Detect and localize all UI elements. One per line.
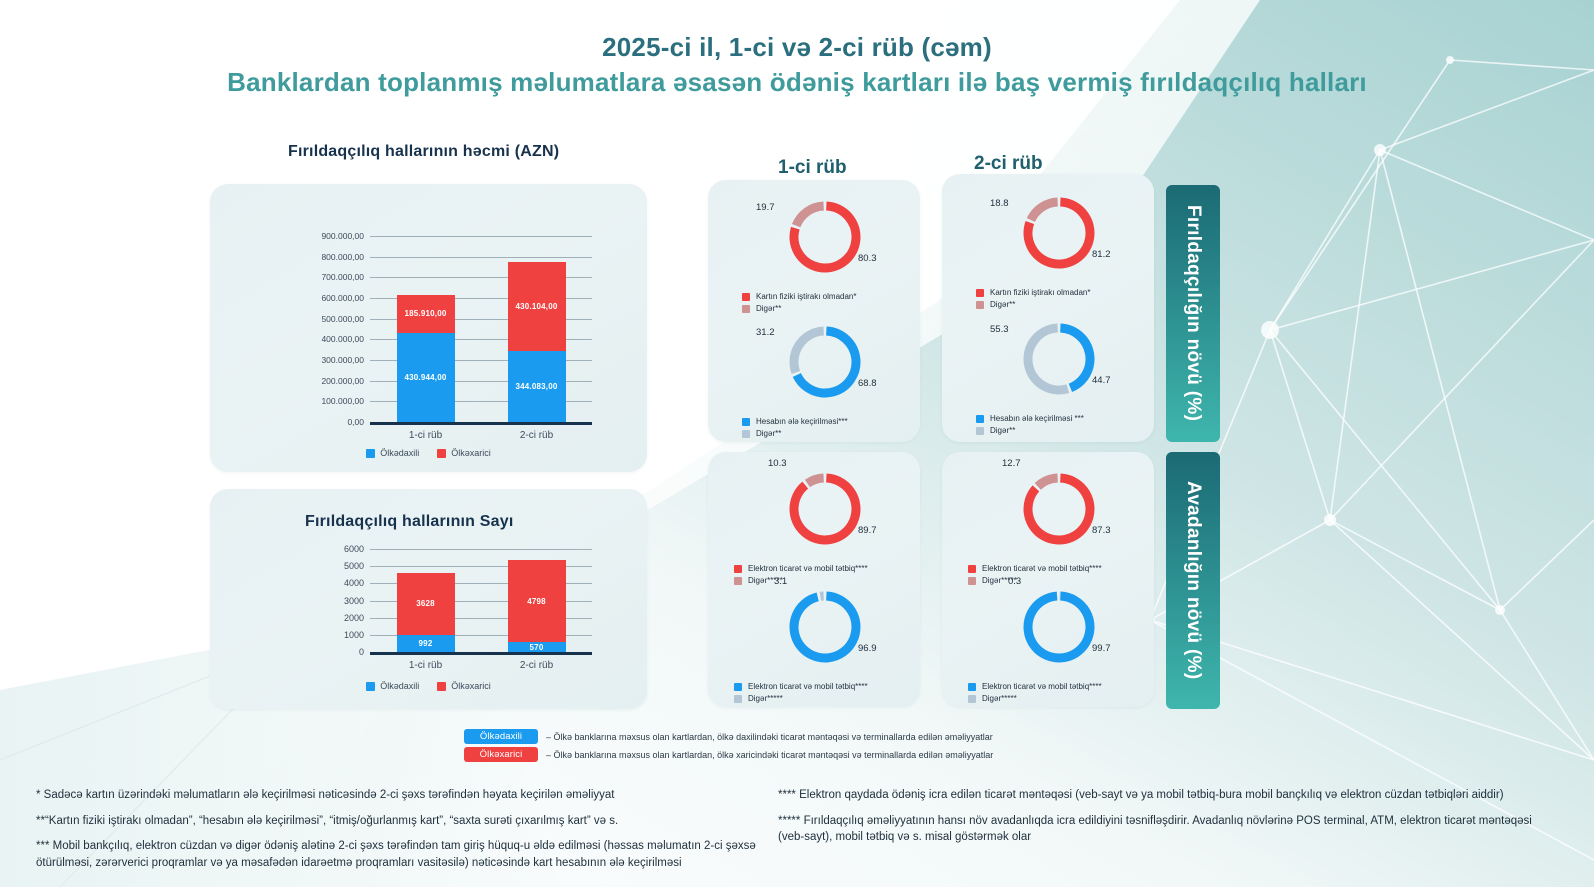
volume-chart: 0,00100.000,00200.000,00300.000,00400.00… [210, 184, 647, 472]
q1-device-donut-b: 96.93.1Elektron ticarət və mobil tətbiq*… [788, 590, 862, 664]
donut-legend-swatch [976, 301, 984, 309]
bar-segment: 570 [508, 642, 566, 652]
footnotes-right: **** Elektron qaydada ödəniş icra edilən… [778, 787, 1538, 855]
donut-legend-item: Elektron ticarət və mobil tətbiq**** [968, 564, 1102, 573]
quarter-1-header: 1-ci rüb [778, 157, 847, 179]
title-line-2: Banklardan toplanmış məlumatlara əsasən … [0, 65, 1594, 100]
donut-legend-swatch [742, 418, 750, 426]
donut-legend-item: Digər***** [968, 576, 1102, 585]
donut-legend: Elektron ticarət və mobil tətbiq****Digə… [968, 682, 1102, 706]
x-axis-category-label: 2-ci rüb [520, 660, 553, 671]
donut-legend-swatch [968, 565, 976, 573]
y-axis-tick-label: 5000 [344, 561, 364, 571]
donut-legend-swatch [976, 289, 984, 297]
footnote-4: **** Elektron qaydada ödəniş icra edilən… [778, 787, 1538, 804]
donut-value-primary: 87.3 [1092, 525, 1111, 536]
q2-device-donut-b: 99.70.3Elektron ticarət və mobil tətbiq*… [1022, 590, 1096, 664]
footnote-3: *** Mobil bankçılıq, elektron cüzdan və … [36, 838, 756, 871]
donut-svg [788, 325, 862, 399]
legend-item: Ölkəxarici [437, 681, 491, 691]
donut-value-secondary: 19.7 [756, 202, 775, 213]
donut-legend-swatch [968, 577, 976, 585]
donut-chart [1022, 322, 1096, 396]
donut-legend-label: Elektron ticarət və mobil tətbiq**** [748, 682, 868, 691]
chart-legend: ÖlkədaxiliÖlkəxarici [210, 448, 647, 458]
donut-legend-swatch [742, 293, 750, 301]
donut-legend-item: Hesabın ələ keçirilməsi *** [976, 414, 1084, 423]
donut-legend: Elektron ticarət və mobil tətbiq****Digə… [968, 564, 1102, 588]
donut-chart [1022, 590, 1096, 664]
donut-svg [788, 472, 862, 546]
donut-legend-swatch [742, 305, 750, 313]
donut-legend-label: Elektron ticarət və mobil tətbiq**** [982, 564, 1102, 573]
bar-value-label: 430.944,00 [404, 373, 446, 382]
q2-fraud-donut-a: 81.218.8Kartın fiziki iştirakı olmadan*D… [1022, 196, 1096, 270]
donut-legend-label: Digər** [756, 429, 781, 438]
bar-value-label: 344.083,00 [515, 382, 557, 391]
donut-legend: Kartın fiziki iştirakı olmadan*Digər** [976, 288, 1090, 312]
y-axis-tick-label: 500.000,00 [321, 314, 364, 324]
donut-legend-swatch [734, 577, 742, 585]
donut-value-primary: 96.9 [858, 643, 877, 654]
legend-swatch [366, 682, 375, 691]
donut-arc [1031, 202, 1058, 220]
donut-value-primary: 80.3 [858, 253, 877, 264]
chart-legend: ÖlkədaxiliÖlkəxarici [210, 681, 647, 691]
donut-svg [1022, 590, 1096, 664]
donut-arc [794, 478, 856, 540]
y-axis-tick-label: 0,00 [347, 417, 364, 427]
donut-legend-item: Digər** [742, 429, 848, 438]
donut-value-secondary: 55.3 [990, 324, 1009, 335]
bar-segment: 430.944,00 [397, 333, 455, 422]
y-axis-tick-label: 700.000,00 [321, 272, 364, 282]
donut-legend-item: Digər***** [734, 576, 868, 585]
donut-chart [788, 200, 862, 274]
count-chart: 010002000300040005000600099236281-ci rüb… [210, 489, 647, 709]
key-row-foreign: Ölkəxarici – Ölkə banklarına məxsus olan… [464, 747, 993, 762]
donut-value-secondary: 3.1 [774, 576, 787, 587]
bar-stack: 344.083,00430.104,00 [508, 236, 566, 422]
quarter-2-header: 2-ci rüb [974, 153, 1043, 175]
donut-legend-item: Elektron ticarət və mobil tətbiq**** [734, 564, 868, 573]
bar-segment: 4798 [508, 560, 566, 642]
bar-stack: 9923628 [397, 549, 455, 652]
y-axis-tick-label: 6000 [344, 544, 364, 554]
donut-value-secondary: 18.8 [990, 198, 1009, 209]
donut-legend-swatch [968, 683, 976, 691]
bar-stack: 5704798 [508, 549, 566, 652]
donut-legend-label: Digər***** [748, 694, 783, 703]
x-axis-category-label: 1-ci rüb [409, 660, 442, 671]
donut-legend-label: Digər***** [982, 694, 1017, 703]
donut-legend-label: Digər** [756, 304, 781, 313]
donut-arc [1028, 328, 1068, 390]
donut-legend-label: Hesabın ələ keçirilməsi*** [756, 417, 848, 426]
footnote-1: * Sadəcə kartın üzərindəki məlumatların … [36, 787, 756, 804]
donut-svg [788, 590, 862, 664]
bar-value-label: 430.104,00 [515, 302, 557, 311]
donut-legend-label: Elektron ticarət və mobil tətbiq**** [748, 564, 868, 573]
donut-arc [807, 478, 823, 483]
y-axis-tick-label: 3000 [344, 596, 364, 606]
y-axis-tick-label: 4000 [344, 578, 364, 588]
donut-arc [796, 206, 823, 226]
y-axis-tick-label: 400.000,00 [321, 334, 364, 344]
donut-value-primary: 81.2 [1092, 249, 1111, 260]
donut-legend: Elektron ticarət və mobil tətbiq****Digə… [734, 682, 868, 706]
donut-legend-label: Kartın fiziki iştirakı olmadan* [990, 288, 1090, 297]
bar-value-label: 4798 [527, 597, 546, 606]
donut-legend-label: Kartın fiziki iştirakı olmadan* [756, 292, 856, 301]
footnotes-left: * Sadəcə kartın üzərindəki məlumatların … [36, 787, 756, 881]
donut-chart [1022, 472, 1096, 546]
bar-value-label: 992 [419, 639, 433, 648]
key-legend: Ölkədaxili – Ölkə banklarına məxsus olan… [464, 729, 993, 765]
bar-value-label: 3628 [416, 599, 435, 608]
donut-legend-item: Digər** [976, 426, 1084, 435]
bar-segment: 185.910,00 [397, 295, 455, 333]
donut-legend-item: Digər***** [968, 694, 1102, 703]
donut-legend-swatch [734, 683, 742, 691]
side-label-device-type-text: Avadanlığın növü (%) [1182, 481, 1204, 679]
donut-svg [1022, 196, 1096, 270]
donut-legend-item: Elektron ticarət və mobil tətbiq**** [734, 682, 868, 691]
donut-chart [788, 325, 862, 399]
page-title: 2025-ci il, 1-ci və 2-ci rüb (cəm) Bankl… [0, 30, 1594, 100]
bar-value-label: 185.910,00 [404, 309, 446, 318]
donut-legend-swatch [976, 415, 984, 423]
donut-legend-item: Digər***** [734, 694, 868, 703]
donut-legend-label: Digər** [990, 300, 1015, 309]
y-axis-tick-label: 800.000,00 [321, 252, 364, 262]
footnote-2: **“Kartın fiziki iştirakı olmadan”, “hes… [36, 813, 756, 830]
donut-value-primary: 44.7 [1092, 375, 1111, 386]
donut-svg [1022, 322, 1096, 396]
x-axis-line [370, 652, 592, 655]
donut-legend-item: Elektron ticarət və mobil tətbiq**** [968, 682, 1102, 691]
donut-legend-item: Digər** [742, 304, 856, 313]
donut-arc [794, 331, 824, 372]
title-line-1: 2025-ci il, 1-ci və 2-ci rüb (cəm) [0, 30, 1594, 65]
donut-value-secondary: 10.3 [768, 458, 787, 469]
donut-legend-label: Hesabın ələ keçirilməsi *** [990, 414, 1084, 423]
donut-legend: Kartın fiziki iştirakı olmadan*Digər** [742, 292, 856, 316]
bar-segment: 430.104,00 [508, 262, 566, 351]
donut-arc [1028, 478, 1090, 540]
footnote-5: ***** Fırıldaqçılıq əməliyyatının hansı … [778, 813, 1538, 846]
donut-arc [1038, 478, 1058, 486]
donut-value-primary: 89.7 [858, 525, 877, 536]
donut-legend-swatch [734, 565, 742, 573]
key-row-domestic: Ölkədaxili – Ölkə banklarına məxsus olan… [464, 729, 993, 744]
y-axis-tick-label: 1000 [344, 630, 364, 640]
donut-value-secondary: 12.7 [1002, 458, 1021, 469]
donut-legend-label: Elektron ticarət və mobil tətbiq**** [982, 682, 1102, 691]
donut-legend-item: Kartın fiziki iştirakı olmadan* [742, 292, 856, 301]
x-axis-line [370, 422, 592, 425]
donut-value-primary: 68.8 [858, 378, 877, 389]
donut-value-secondary: 31.2 [756, 327, 775, 338]
donut-legend-swatch [968, 695, 976, 703]
bar-segment: 992 [397, 635, 455, 652]
q1-fraud-donut-b: 68.831.2Hesabın ələ keçirilməsi***Digər*… [788, 325, 862, 399]
legend-swatch [366, 449, 375, 458]
legend-label: Ölkəxarici [451, 448, 491, 458]
bar-value-label: 570 [530, 643, 544, 652]
donut-legend-item: Hesabın ələ keçirilməsi*** [742, 417, 848, 426]
donut-legend-label: Digər** [990, 426, 1015, 435]
donut-chart [788, 590, 862, 664]
legend-label: Ölkədaxili [380, 448, 419, 458]
q2-fraud-donut-b: 44.755.3Hesabın ələ keçirilməsi ***Digər… [1022, 322, 1096, 396]
x-axis-category-label: 1-ci rüb [409, 430, 442, 441]
legend-swatch [437, 682, 446, 691]
volume-chart-title: Fırıldaqçılıq hallarının həcmi (AZN) [288, 143, 559, 161]
y-axis-tick-label: 600.000,00 [321, 293, 364, 303]
donut-svg [788, 200, 862, 274]
y-axis-tick-label: 2000 [344, 613, 364, 623]
donut-legend-swatch [976, 427, 984, 435]
donut-arc [794, 596, 856, 658]
key-text-domestic: – Ölkə banklarına məxsus olan kartlardan… [546, 732, 993, 742]
legend-item: Ölkədaxili [366, 448, 419, 458]
side-label-device-type: Avadanlığın növü (%) [1166, 452, 1220, 709]
side-label-fraud-type: Fırıldaqçılığın növü (%) [1166, 185, 1220, 442]
donut-value-primary: 99.7 [1092, 643, 1111, 654]
donut-legend-swatch [734, 695, 742, 703]
y-axis-tick-label: 300.000,00 [321, 355, 364, 365]
legend-label: Ölkəxarici [451, 681, 491, 691]
donut-arc [1060, 328, 1090, 388]
donut-svg [1022, 472, 1096, 546]
key-chip-domestic: Ölkədaxili [464, 729, 538, 744]
key-text-foreign: – Ölkə banklarına məxsus olan kartlardan… [546, 750, 993, 760]
legend-item: Ölkəxarici [437, 448, 491, 458]
donut-chart [1022, 196, 1096, 270]
donut-legend-item: Digər** [976, 300, 1090, 309]
donut-legend: Hesabın ələ keçirilməsi***Digər** [742, 417, 848, 441]
bar-segment: 344.083,00 [508, 351, 566, 422]
donut-legend-swatch [742, 430, 750, 438]
donut-value-secondary: 0.3 [1008, 576, 1021, 587]
y-axis-tick-label: 200.000,00 [321, 376, 364, 386]
y-axis-tick-label: 100.000,00 [321, 396, 364, 406]
bar-segment: 3628 [397, 573, 455, 635]
legend-item: Ölkədaxili [366, 681, 419, 691]
y-axis-tick-label: 0 [359, 647, 364, 657]
donut-chart [788, 472, 862, 546]
side-label-fraud-type-text: Fırıldaqçılığın növü (%) [1182, 205, 1204, 421]
q1-device-donut-a: 89.710.3Elektron ticarət və mobil tətbiq… [788, 472, 862, 546]
donut-legend: Elektron ticarət və mobil tətbiq****Digə… [734, 564, 868, 588]
donut-arc [1028, 596, 1090, 658]
x-axis-category-label: 2-ci rüb [520, 430, 553, 441]
q2-device-donut-a: 87.312.7Elektron ticarət və mobil tətbiq… [1022, 472, 1096, 546]
key-chip-foreign: Ölkəxarici [464, 747, 538, 762]
q1-fraud-donut-a: 80.319.7Kartın fiziki iştirakı olmadan*D… [788, 200, 862, 274]
donut-legend-item: Kartın fiziki iştirakı olmadan* [976, 288, 1090, 297]
legend-label: Ölkədaxili [380, 681, 419, 691]
bar-stack: 430.944,00185.910,00 [397, 236, 455, 422]
donut-legend: Hesabın ələ keçirilməsi ***Digər** [976, 414, 1084, 438]
y-axis-tick-label: 900.000,00 [321, 231, 364, 241]
legend-swatch [437, 449, 446, 458]
